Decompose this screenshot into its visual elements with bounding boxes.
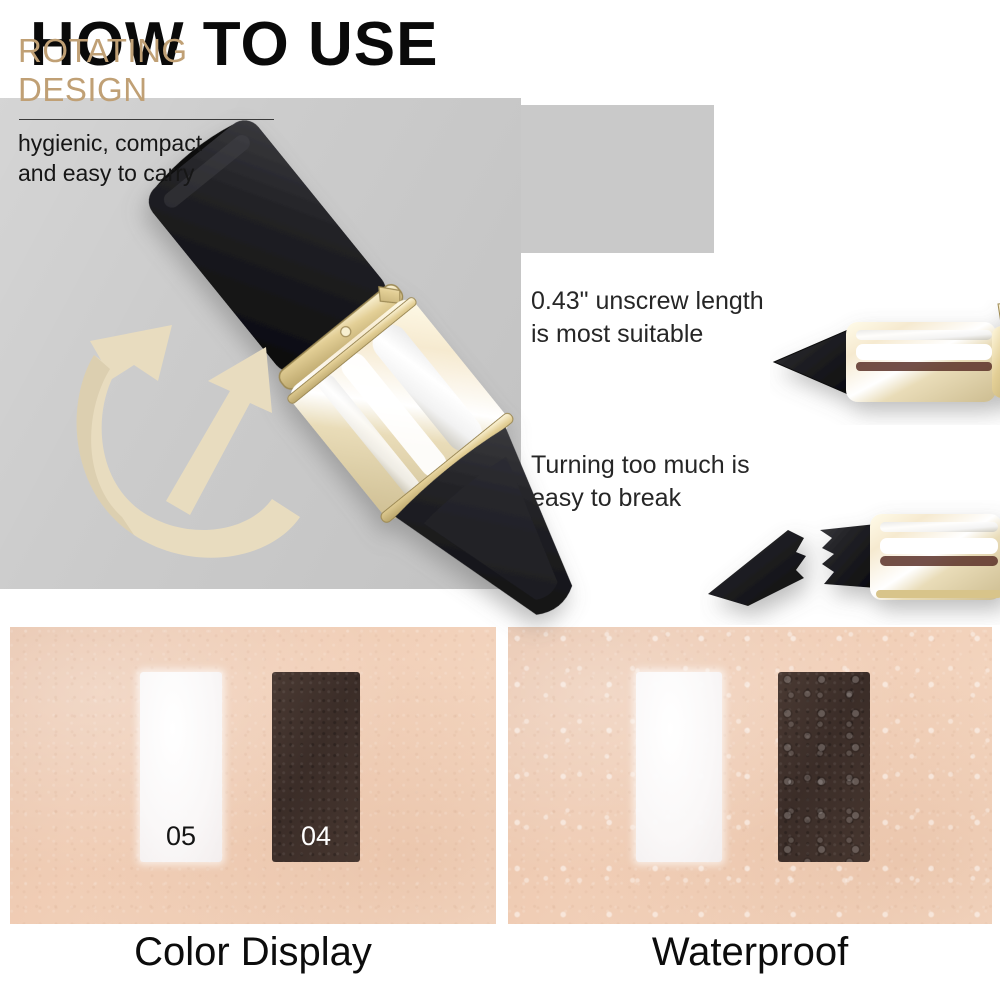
caption-color-display: Color Display — [10, 932, 496, 972]
swatch-05: 05 — [140, 672, 222, 862]
tip-backdrop-panel — [521, 105, 714, 253]
heading-divider — [19, 119, 274, 120]
swatch-label-05: 05 — [140, 823, 222, 850]
skin-background — [10, 627, 496, 924]
caption-waterproof: Waterproof — [508, 932, 992, 972]
water-droplets-overlay — [508, 627, 992, 924]
swatch-04: 04 — [272, 672, 360, 862]
pen-intact-illustration — [770, 300, 1000, 425]
swatch-white-wet — [636, 672, 722, 862]
rotating-design-subtext: hygienic, compact and easy to carry — [18, 129, 202, 189]
tip-unscrew-length: 0.43" unscrew length is most suitable — [531, 285, 764, 351]
rotating-design-heading: ROTATING DESIGN — [18, 32, 188, 109]
waterproof-panel — [508, 627, 992, 924]
tip-turning-too-much: Turning too much is easy to break — [531, 449, 750, 515]
swatch-label-04: 04 — [272, 823, 360, 850]
color-display-panel: 05 04 — [10, 627, 496, 924]
swatch-dark-wet — [778, 672, 870, 862]
